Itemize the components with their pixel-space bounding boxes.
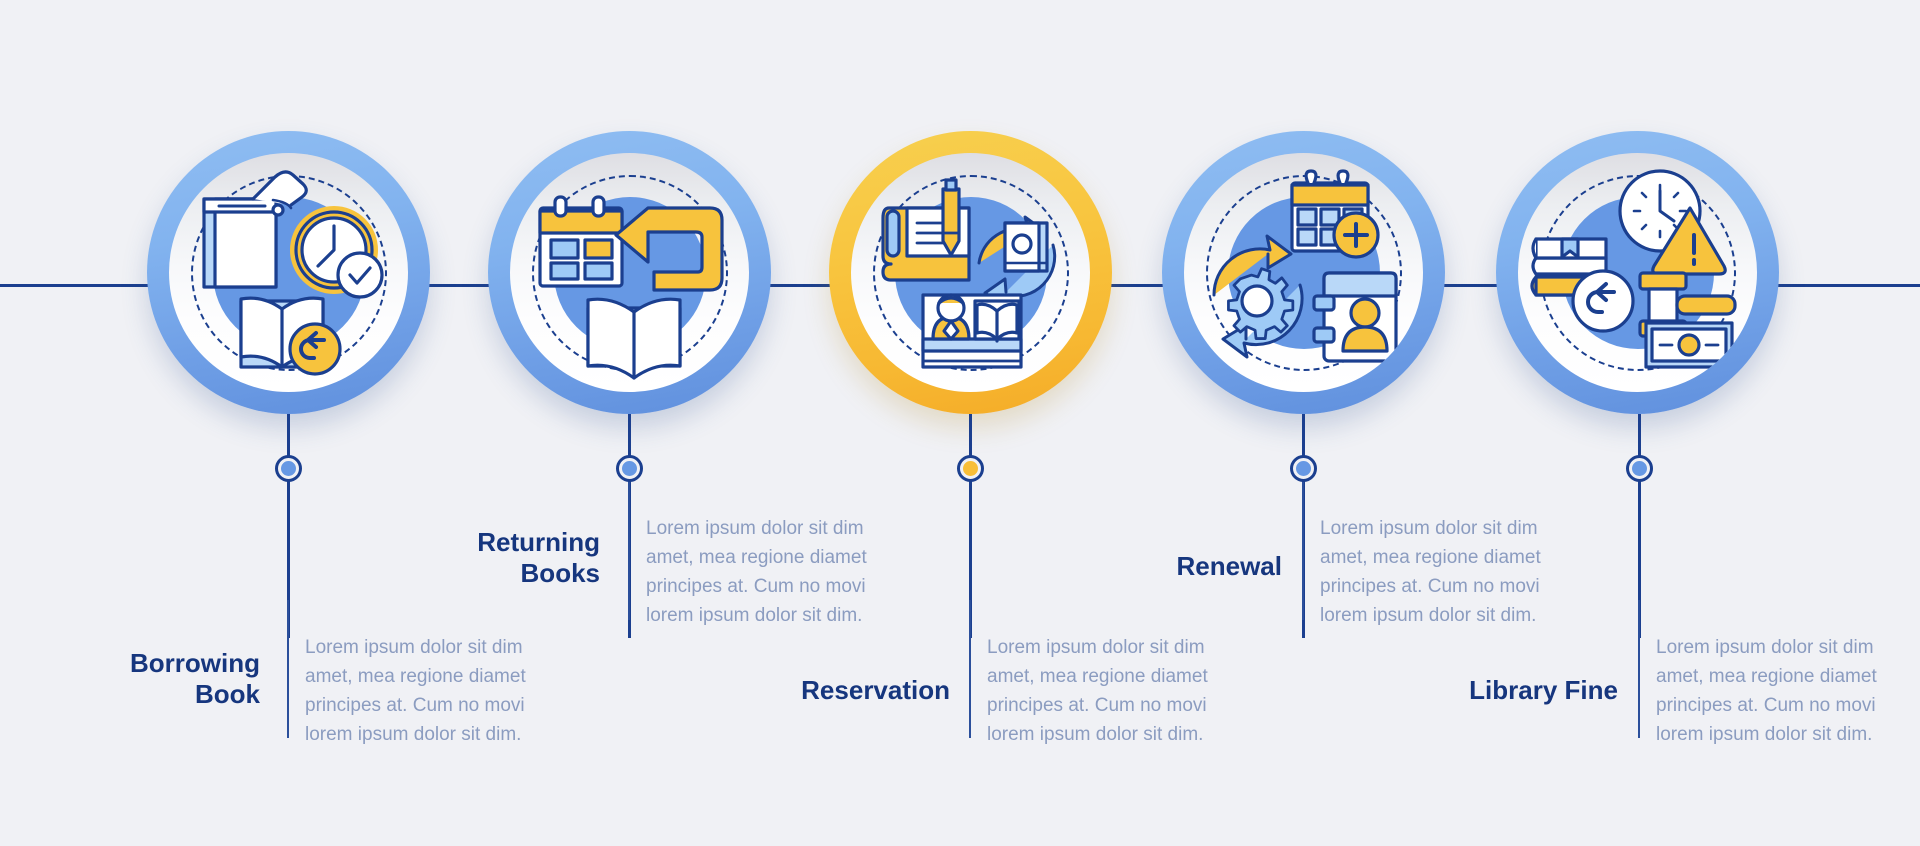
step-label-3: Reservation [740, 675, 950, 706]
step-node-4[interactable] [1162, 131, 1445, 414]
step-label-1: Borrowing Book [60, 648, 260, 709]
step-body-2: Lorem ipsum dolor sit dim amet, mea regi… [646, 514, 888, 630]
step-inner-4 [1184, 153, 1423, 392]
step-inner-3 [851, 153, 1090, 392]
renewal-icon [1184, 153, 1423, 392]
step-body-1: Lorem ipsum dolor sit dim amet, mea regi… [305, 633, 547, 749]
step-inner-2 [510, 153, 749, 392]
step-label-4: Renewal [1090, 551, 1282, 582]
step-separator-3 [969, 600, 971, 738]
step-inner-5 [1518, 153, 1757, 392]
step-dot-4[interactable] [1290, 455, 1317, 482]
reservation-icon [851, 153, 1090, 392]
step-node-5[interactable] [1496, 131, 1779, 414]
step-label-2: Returning Books [408, 527, 600, 588]
step-separator-4 [1302, 482, 1304, 620]
step-node-2[interactable] [488, 131, 771, 414]
infographic-canvas: Borrowing Book Lorem ipsum dolor sit dim… [0, 0, 1920, 846]
borrowing-book-icon [169, 153, 408, 392]
step-label-5: Library Fine [1400, 675, 1618, 706]
step-dot-5[interactable] [1626, 455, 1653, 482]
step-separator-5 [1638, 600, 1640, 738]
step-dot-3[interactable] [957, 455, 984, 482]
step-dot-1[interactable] [275, 455, 302, 482]
step-inner-1 [169, 153, 408, 392]
step-body-3: Lorem ipsum dolor sit dim amet, mea regi… [987, 633, 1229, 749]
step-body-4: Lorem ipsum dolor sit dim amet, mea regi… [1320, 514, 1562, 630]
step-separator-2 [628, 482, 630, 620]
step-dot-2[interactable] [616, 455, 643, 482]
step-body-5: Lorem ipsum dolor sit dim amet, mea regi… [1656, 633, 1898, 749]
step-separator-1 [287, 600, 289, 738]
step-node-3[interactable] [829, 131, 1112, 414]
library-fine-icon [1518, 153, 1757, 392]
step-node-1[interactable] [147, 131, 430, 414]
returning-books-icon [510, 153, 749, 392]
